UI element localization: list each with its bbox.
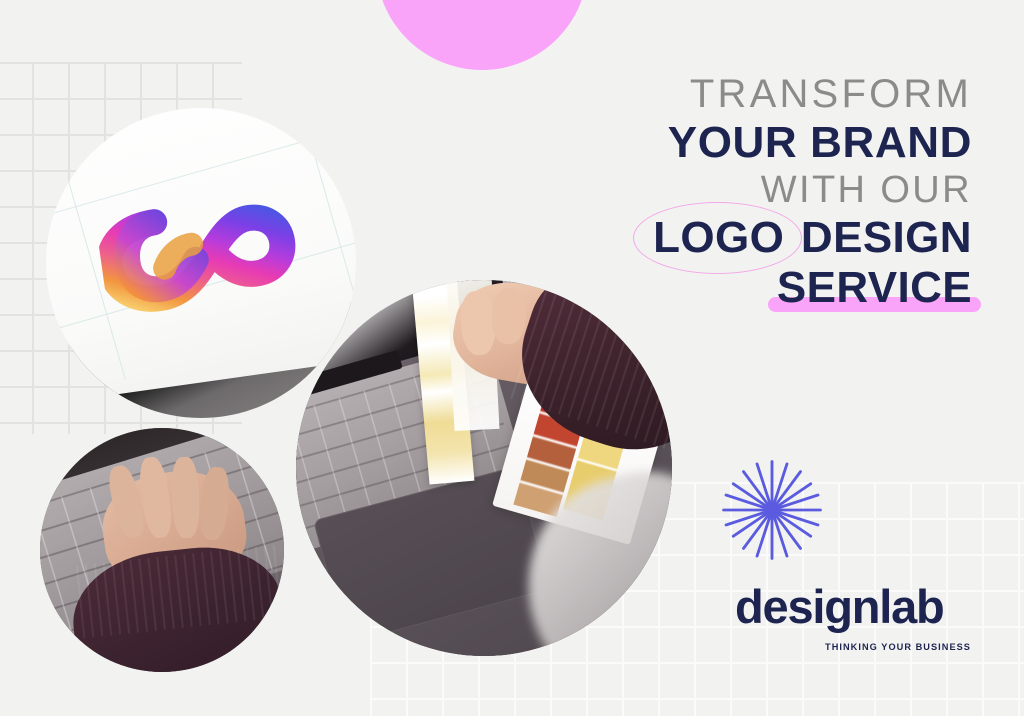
- headline-line-with-our: WITH OUR: [542, 169, 972, 212]
- pink-circle-decoration: [376, 0, 588, 70]
- starburst-icon: [717, 455, 827, 565]
- hand-typing-keyboard-photo: [40, 428, 284, 672]
- headline-block: TRANSFORM YOUR BRAND WITH OUR LOGO DESIG…: [542, 74, 972, 313]
- poster-canvas: TRANSFORM YOUR BRAND WITH OUR LOGO DESIG…: [0, 0, 1024, 716]
- designlab-wordmark: designlab: [735, 583, 973, 630]
- headline-line-service-wrap: SERVICE: [542, 264, 972, 312]
- designlab-logo: designlab THINKING YOUR BUSINESS: [735, 583, 973, 651]
- headline-word-logo: LOGO: [649, 213, 788, 262]
- headline-line-your-brand: YOUR BRAND: [542, 120, 972, 167]
- headline-line-logo-design: LOGO DESIGN: [542, 213, 972, 262]
- hand-holding-color-swatches-photo: [296, 280, 672, 656]
- headline-word-logo-text: LOGO: [653, 213, 784, 262]
- designlab-tagline: THINKING YOUR BUSINESS: [825, 642, 971, 652]
- headline-word-service-text: SERVICE: [777, 263, 972, 312]
- headline-line-service: SERVICE: [777, 264, 972, 312]
- headline-word-design: DESIGN: [801, 213, 972, 262]
- headline-line-transform: TRANSFORM: [542, 74, 972, 114]
